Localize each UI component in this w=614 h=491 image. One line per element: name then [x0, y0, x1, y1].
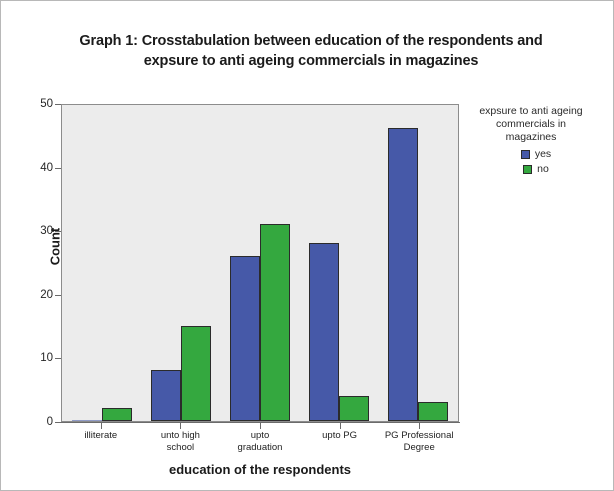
bar-no	[418, 402, 448, 421]
bar-group	[379, 105, 458, 421]
bar-no	[260, 224, 290, 421]
y-tick-label: 30	[19, 225, 53, 237]
x-tick-mark	[101, 422, 102, 429]
y-tick-label: 50	[19, 98, 53, 110]
bar-yes	[388, 128, 418, 421]
bar-yes	[72, 420, 102, 422]
legend-items: yesno	[463, 148, 609, 175]
legend: expsure to anti ageingcommercials inmaga…	[463, 105, 609, 175]
x-tick-mark	[340, 422, 341, 429]
x-tick-label-line: upto PG	[300, 430, 380, 442]
y-tick-label: 20	[19, 289, 53, 301]
y-tick-label: 40	[19, 162, 53, 174]
legend-title-line: commercials in	[463, 118, 599, 131]
legend-label: yes	[535, 148, 551, 160]
bar-no	[102, 408, 132, 421]
x-tick-label-line: school	[141, 442, 221, 454]
legend-title: expsure to anti ageingcommercials inmaga…	[463, 105, 599, 144]
legend-label: no	[537, 163, 549, 175]
x-tick-label-line: Degree	[379, 442, 459, 454]
x-tick-label: unto highschool	[141, 430, 221, 454]
x-tick-label-line: PG Professional	[379, 430, 459, 442]
chart-figure: Graph 1: Crosstabulation between educati…	[0, 0, 614, 491]
x-tick-label: PG ProfessionalDegree	[379, 430, 459, 454]
x-tick-label-line: illiterate	[61, 430, 141, 442]
x-tick-label: illiterate	[61, 430, 141, 454]
x-axis-labels: illiterateunto highschooluptograduationu…	[61, 430, 459, 454]
legend-title-line: magazines	[463, 131, 599, 144]
legend-title-line: expsure to anti ageing	[463, 105, 599, 118]
bar-yes	[151, 370, 181, 421]
x-tick-mark	[260, 422, 261, 429]
x-tick-label: uptograduation	[220, 430, 300, 454]
bar-yes	[230, 256, 260, 421]
legend-item-yes[interactable]: yes	[463, 148, 609, 160]
bar-group	[141, 105, 220, 421]
bar-groups	[62, 105, 458, 421]
x-tick-mark	[180, 422, 181, 429]
bar-no	[339, 396, 369, 421]
x-tick-label-line: unto high	[141, 430, 221, 442]
x-tick-label-line: graduation	[220, 442, 300, 454]
bar-yes	[309, 243, 339, 421]
bar-group	[220, 105, 299, 421]
legend-item-no[interactable]: no	[463, 163, 609, 175]
bar-group	[300, 105, 379, 421]
bar-group	[62, 105, 141, 421]
y-tick-label: 10	[19, 352, 53, 364]
bar-no	[181, 326, 211, 421]
x-tick-mark	[419, 422, 420, 429]
x-tick-label: upto PG	[300, 430, 380, 454]
legend-swatch-icon	[521, 150, 530, 159]
y-tick-label: 0	[19, 416, 53, 428]
plot-area	[61, 104, 459, 422]
x-axis-title: education of the respondents	[61, 462, 459, 477]
x-tick-label-line: upto	[220, 430, 300, 442]
legend-swatch-icon	[523, 165, 532, 174]
